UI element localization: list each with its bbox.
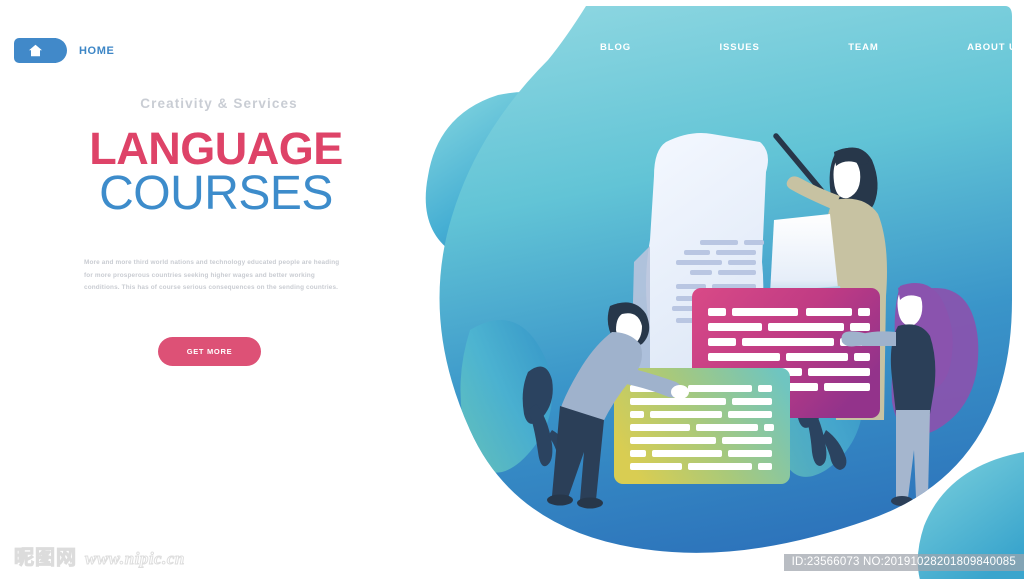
hero-title-secondary: COURSES [0,170,420,219]
nav-item-blog[interactable]: BLOG [600,42,631,53]
main-nav[interactable]: BLOG ISSUES TEAM ABOUT US [600,42,1024,53]
landing-page-canvas: HOME BLOG ISSUES TEAM ABOUT US Creativit… [0,0,1024,579]
card-green [604,368,790,484]
nav-item-about-us[interactable]: ABOUT US [967,42,1024,53]
laptop [768,214,842,300]
get-more-button[interactable]: GET MORE [158,337,261,366]
home-icon [28,44,43,57]
hero-title-primary: LANGUAGE [0,127,420,170]
nav-item-team[interactable]: TEAM [848,42,879,53]
watermark-url: www.nipic.cn [85,549,185,570]
watermark: 昵图网 www.nipic.cn [14,541,185,570]
home-chip[interactable] [14,38,56,63]
asset-id-bar: ID:23566073 NO:20191028201809840085 [784,554,1024,571]
home-label[interactable]: HOME [79,45,114,57]
hero-paragraph: More and more third world nations and te… [78,257,346,294]
nav-item-issues[interactable]: ISSUES [720,42,760,53]
hero-eyebrow: Creativity & Services [0,96,420,111]
background-blob-main [430,0,1024,579]
hero-section: Creativity & Services LANGUAGE COURSES M… [0,96,420,366]
home-nav[interactable]: HOME [14,38,114,63]
watermark-logo-text: 昵图网 [14,541,77,570]
